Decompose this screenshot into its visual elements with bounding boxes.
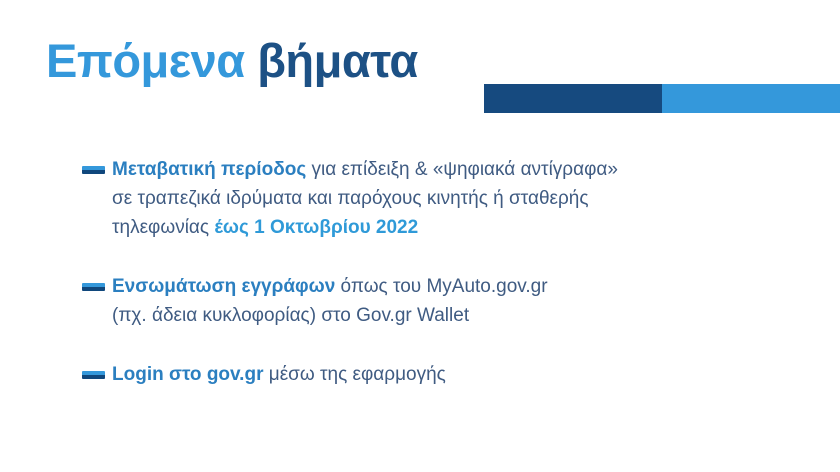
bullet-emphasis-text: Login στο gov.gr (112, 364, 263, 385)
page-title-part-dark: βήματα (257, 34, 418, 87)
accent-bar (484, 84, 840, 113)
bullet-line: σε τραπεζικά ιδρύματα και παρόχους κινητ… (112, 184, 782, 213)
slide-canvas: Επόμενα βήματα Μεταβατική περίοδος για ε… (0, 0, 840, 472)
bullet-bar-icon (82, 283, 105, 291)
list-item: Ενσωμάτωση εγγράφων όπως του MyAuto.gov.… (82, 272, 782, 330)
bullet-regular-text: (πχ. άδεια κυκλοφορίας) στο Gov.gr Walle… (112, 305, 469, 326)
bullet-bar-icon (82, 371, 105, 379)
page-title-part-light: Επόμενα (46, 34, 257, 87)
bullet-bar-icon (82, 166, 105, 174)
bullet-emphasis-text: Μεταβατική περίοδος (112, 159, 306, 180)
accent-bar-light-segment (662, 84, 840, 113)
bullet-emphasis-text: Ενσωμάτωση εγγράφων (112, 276, 335, 297)
accent-bar-dark-segment (484, 84, 662, 113)
bullet-regular-text: τηλεφωνίας (112, 217, 214, 238)
list-item: Μεταβατική περίοδος για επίδειξη & «ψηφι… (82, 155, 782, 242)
bullet-line: Ενσωμάτωση εγγράφων όπως του MyAuto.gov.… (112, 272, 782, 301)
bullet-regular-text: όπως του MyAuto.gov.gr (335, 276, 547, 297)
bullet-list: Μεταβατική περίοδος για επίδειξη & «ψηφι… (82, 155, 782, 389)
title-row: Επόμενα βήματα (0, 32, 840, 94)
bullet-regular-text: για επίδειξη & «ψηφιακά αντίγραφα» (306, 159, 618, 180)
bullet-line: (πχ. άδεια κυκλοφορίας) στο Gov.gr Walle… (112, 301, 782, 330)
bullet-line: Login στο gov.gr μέσω της εφαρμογής (112, 360, 782, 389)
bullet-line: τηλεφωνίας έως 1 Οκτωβρίου 2022 (112, 213, 782, 242)
bullet-regular-text: σε τραπεζικά ιδρύματα και παρόχους κινητ… (112, 188, 589, 209)
list-item: Login στο gov.gr μέσω της εφαρμογής (82, 360, 782, 389)
bullet-regular-text: μέσω της εφαρμογής (263, 364, 445, 385)
page-title: Επόμενα βήματα (46, 32, 418, 90)
bullet-line: Μεταβατική περίοδος για επίδειξη & «ψηφι… (112, 155, 782, 184)
bullet-deadline-text: έως 1 Οκτωβρίου 2022 (214, 217, 418, 238)
